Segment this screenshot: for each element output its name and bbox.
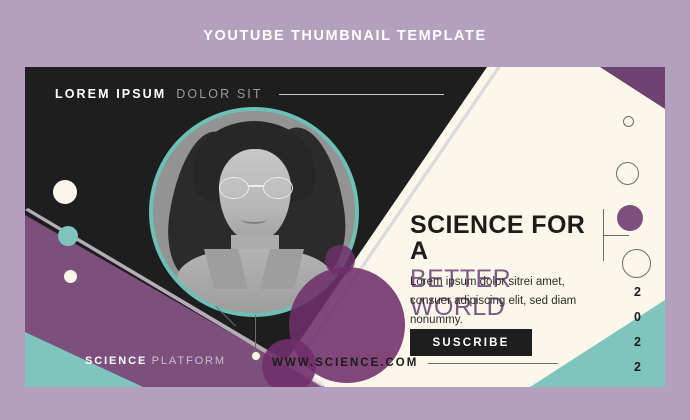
overlay-circle-small bbox=[325, 245, 355, 275]
elbow-connector-endpoint-circle bbox=[251, 351, 261, 361]
header-rule-divider bbox=[279, 94, 444, 95]
decorative-dot-teal bbox=[58, 226, 78, 246]
decorative-circle-outline-large bbox=[622, 249, 651, 278]
footer-brand-light: PLATFORM bbox=[152, 355, 226, 367]
year-stack: 2 0 2 2 bbox=[634, 285, 641, 374]
thumbnail-template-page: YOUTUBE THUMBNAIL TEMPLATE LOREM IPSUM D… bbox=[0, 0, 690, 420]
body-copy-text: Lorem ipsum dolor sitrei amet, consuer a… bbox=[410, 273, 595, 330]
subscribe-button[interactable]: SUSCRIBE bbox=[410, 329, 532, 356]
footer-url-text[interactable]: WWW.SCIENCE.COM bbox=[272, 357, 418, 369]
glasses-lens-right bbox=[263, 177, 293, 199]
headline-connector-horizontal-line bbox=[603, 235, 629, 236]
elbow-connector-vertical bbox=[255, 315, 256, 353]
year-digit: 0 bbox=[634, 310, 641, 324]
footer-url-group: WWW.SCIENCE.COM bbox=[272, 357, 558, 369]
thumbnail-card: LOREM IPSUM DOLOR SIT bbox=[25, 67, 665, 387]
footer-url-rule bbox=[428, 363, 558, 364]
portrait-glasses bbox=[217, 177, 295, 197]
card-header: LOREM IPSUM DOLOR SIT bbox=[55, 87, 444, 101]
header-light-text: DOLOR SIT bbox=[176, 87, 262, 101]
decorative-circle-outline-xsmall bbox=[623, 116, 634, 127]
glasses-lens-left bbox=[219, 177, 249, 199]
decorative-circle-outline-small bbox=[616, 162, 639, 185]
headline-line-1: SCIENCE FOR A bbox=[410, 212, 610, 265]
decorative-dot-cream-large bbox=[53, 180, 77, 204]
year-digit: 2 bbox=[634, 360, 641, 374]
glasses-bridge bbox=[248, 185, 264, 187]
decorative-circle-filled-purple bbox=[617, 205, 643, 231]
portrait-mouth bbox=[241, 215, 267, 224]
year-digit: 2 bbox=[634, 285, 641, 299]
header-bold-text: LOREM IPSUM bbox=[55, 87, 166, 101]
year-digit: 2 bbox=[634, 335, 641, 349]
footer-brand: SCIENCE PLATFORM bbox=[85, 351, 226, 369]
page-title: YOUTUBE THUMBNAIL TEMPLATE bbox=[0, 28, 690, 44]
footer-brand-bold: SCIENCE bbox=[85, 355, 147, 367]
decorative-dot-cream-small bbox=[64, 270, 77, 283]
